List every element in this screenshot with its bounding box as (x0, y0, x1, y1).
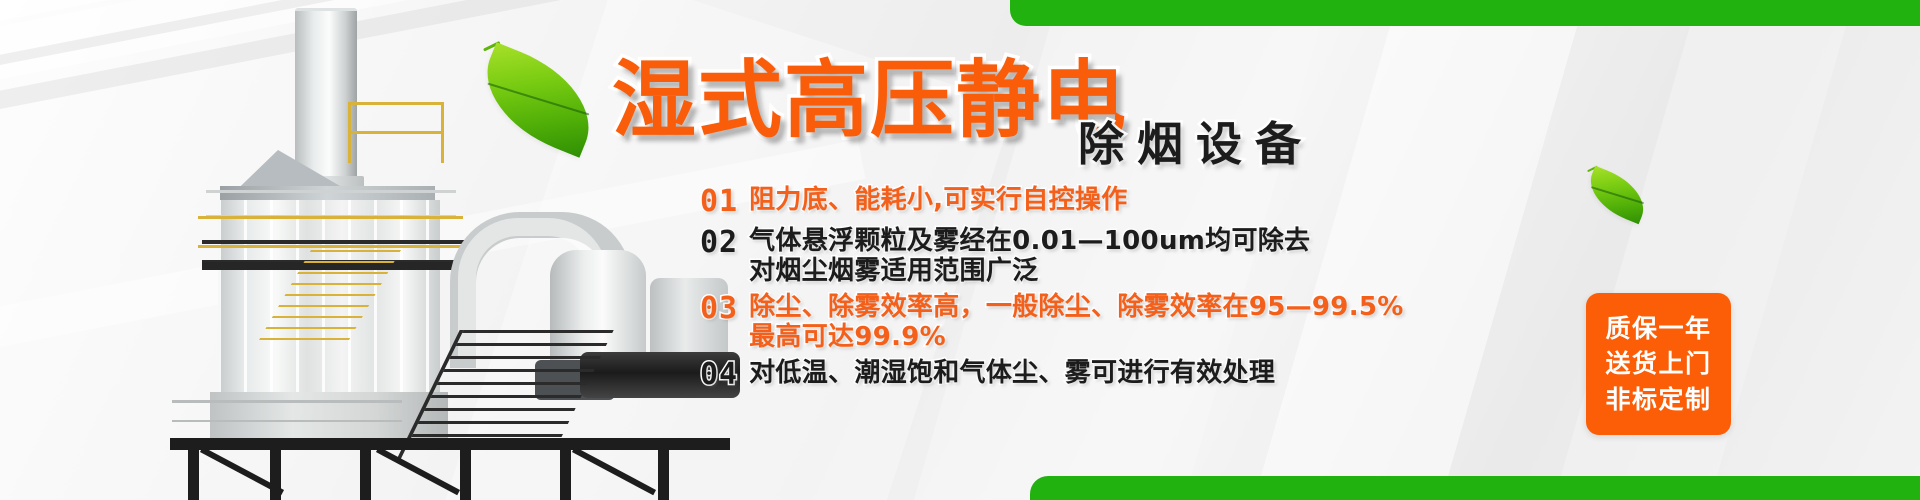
support-leg (658, 450, 669, 500)
steel-platform (170, 438, 730, 450)
feature-line-1: 除尘、除雾效率高，一般除尘、除雾效率在95—99.5% (749, 292, 1403, 322)
feature-text: 气体悬浮颗粒及雾经在0.01—100um均可除去 对烟尘烟雾适用范围广泛 (749, 226, 1310, 286)
feature-number: 03 (700, 292, 738, 327)
feature-line-2: 最高可达99.9% (749, 322, 1403, 352)
green-bar-top (1010, 0, 1920, 26)
page-title: 湿式高压静电 (612, 58, 1128, 142)
upper-railing (206, 190, 456, 218)
guarantee-badge: 质保一年 送货上门 非标定制 (1586, 293, 1731, 435)
feature-number: 02 (700, 226, 738, 261)
badge-line-delivery: 送货上门 (1605, 346, 1711, 382)
feature-text: 对低温、潮湿饱和气体尘、雾可进行有效处理 (749, 358, 1275, 388)
feature-number: 01 (700, 185, 738, 220)
feature-list: 01 阻力底、能耗小,可实行自控操作 02 气体悬浮颗粒及雾经在0.01—100… (700, 185, 1580, 399)
support-leg (460, 450, 471, 500)
list-item: 02 气体悬浮颗粒及雾经在0.01—100um均可除去 对烟尘烟雾适用范围广泛 (700, 226, 1580, 286)
feature-number: 04 (700, 358, 738, 393)
leaf-icon (1581, 166, 1653, 224)
feature-line-2: 对烟尘烟雾适用范围广泛 (749, 256, 1310, 286)
headline-group: 湿式高压静电 除烟设备 (612, 58, 1128, 142)
support-leg (560, 450, 571, 500)
feature-line-1: 阻力底、能耗小,可实行自控操作 (749, 185, 1127, 215)
badge-line-custom: 非标定制 (1605, 382, 1711, 418)
support-leg (360, 450, 371, 500)
feature-line-1: 气体悬浮颗粒及雾经在0.01—100um均可除去 (749, 226, 1310, 256)
list-item: 04 对低温、潮湿饱和气体尘、雾可进行有效处理 (700, 358, 1580, 393)
badge-line-warranty: 质保一年 (1605, 311, 1711, 347)
list-item: 01 阻力底、能耗小,可实行自控操作 (700, 185, 1580, 220)
leaf-vein (488, 83, 589, 115)
feature-line-1: 对低温、潮湿饱和气体尘、雾可进行有效处理 (749, 358, 1275, 388)
leaf-blade (1581, 166, 1653, 224)
page-subtitle: 除烟设备 (1078, 108, 1314, 174)
promo-banner: 湿式高压静电 除烟设备 01 阻力底、能耗小,可实行自控操作 02 气体悬浮颗粒… (0, 0, 1920, 500)
feature-text: 除尘、除雾效率高，一般除尘、除雾效率在95—99.5% 最高可达99.9% (749, 292, 1403, 352)
leaf-vein (1591, 186, 1644, 203)
list-item: 03 除尘、除雾效率高，一般除尘、除雾效率在95—99.5% 最高可达99.9% (700, 292, 1580, 352)
support-leg (188, 450, 199, 500)
feature-text: 阻力底、能耗小,可实行自控操作 (749, 185, 1127, 215)
support-brace (572, 447, 656, 495)
green-bar-bottom (1030, 476, 1920, 500)
